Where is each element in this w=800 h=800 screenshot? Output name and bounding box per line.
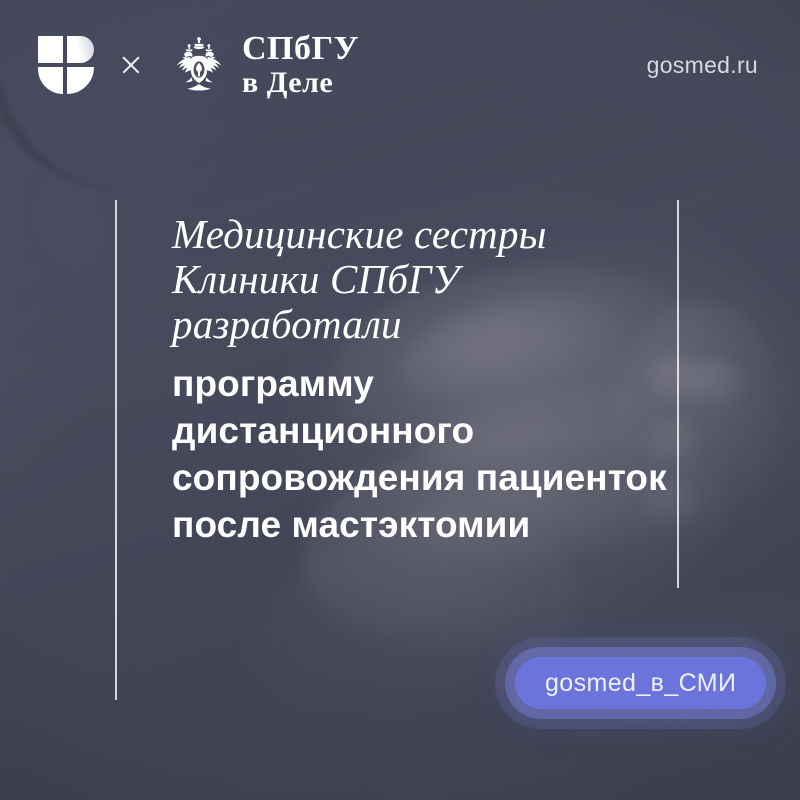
headline-emphasis: программу дистанционного сопровождения п… — [172, 361, 672, 549]
headline-block: Медицинские сестры Клиники СПбГУ разрабо… — [172, 212, 672, 549]
spbgu-wordmark-line-1: СПбГУ — [242, 32, 359, 65]
logo-square-top-left — [38, 36, 63, 63]
rosmed-r-logo-icon[interactable] — [38, 36, 94, 94]
logo-bowl-top-right — [67, 36, 94, 63]
logo-quarter-bottom-left — [38, 67, 63, 94]
spbgu-wordmark: СПбГУ в Деле — [242, 32, 359, 98]
vertical-rule-left — [115, 200, 117, 700]
card-header: СПбГУ в Деле gosmed.ru — [0, 0, 800, 130]
site-url-label[interactable]: gosmed.ru — [647, 52, 758, 79]
logo-quarter-bottom-right — [67, 67, 94, 94]
vertical-rule-right — [677, 200, 679, 588]
headline-lede: Медицинские сестры Клиники СПбГУ разрабо… — [172, 212, 672, 347]
status-badge-label: gosmed_в_СМИ — [545, 669, 736, 698]
social-media-card: СПбГУ в Деле gosmed.ru Медицинские сестр… — [0, 0, 800, 800]
status-badge[interactable]: gosmed_в_СМИ — [515, 657, 766, 709]
spbgu-wordmark-line-2: в Деле — [242, 68, 359, 97]
double-headed-eagle-emblem-icon[interactable] — [168, 34, 230, 96]
x-cross-icon — [120, 54, 142, 76]
